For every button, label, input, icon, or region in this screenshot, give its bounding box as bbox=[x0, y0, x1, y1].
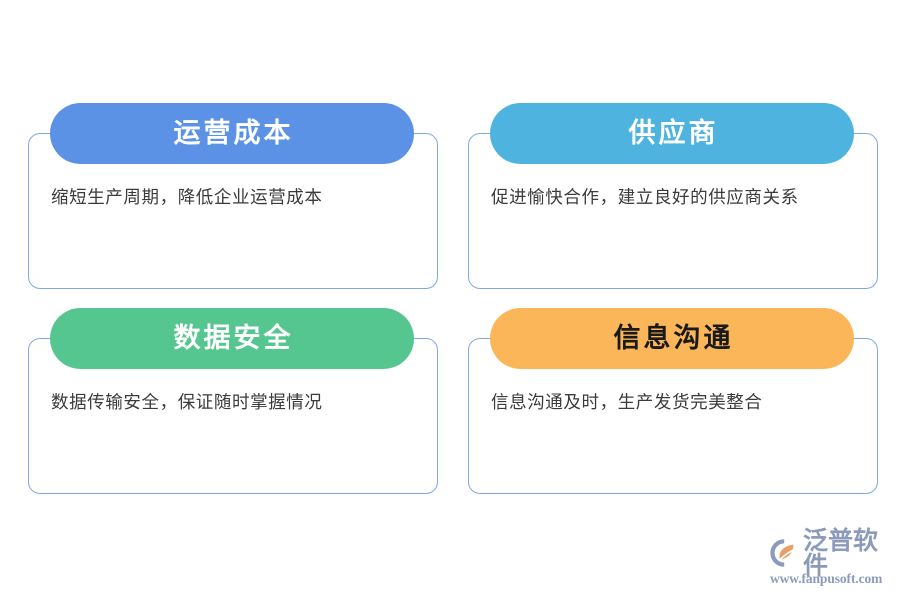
logo-website-url: www.fanpusoft.com bbox=[770, 571, 882, 587]
card-header-pill-data-security: 数据安全 bbox=[50, 308, 414, 369]
card-body-text: 缩短生产周期，降低企业运营成本 bbox=[51, 182, 401, 213]
logo-row: 泛普软件 bbox=[768, 536, 892, 570]
card-header-pill-information-communication: 信息沟通 bbox=[490, 308, 854, 369]
card-header-pill-supplier: 供应商 bbox=[490, 103, 854, 164]
card-title: 数据安全 bbox=[171, 325, 294, 352]
card-header-pill-operating-cost: 运营成本 bbox=[50, 103, 414, 164]
card-title: 信息沟通 bbox=[611, 325, 734, 352]
card-body-text: 数据传输安全，保证随时掌握情况 bbox=[51, 387, 401, 418]
fanpu-emblem-icon bbox=[768, 537, 800, 569]
card-body-text: 信息沟通及时，生产发货完美整合 bbox=[491, 387, 841, 418]
page-canvas: 缩短生产周期，降低企业运营成本 运营成本 促进愉快合作，建立良好的供应商关系 供… bbox=[0, 0, 900, 600]
card-title: 供应商 bbox=[626, 120, 719, 147]
card-title: 运营成本 bbox=[171, 120, 294, 147]
brand-logo: 泛普软件 www.fanpusoft.com bbox=[768, 536, 892, 592]
card-body-text: 促进愉快合作，建立良好的供应商关系 bbox=[491, 182, 841, 213]
